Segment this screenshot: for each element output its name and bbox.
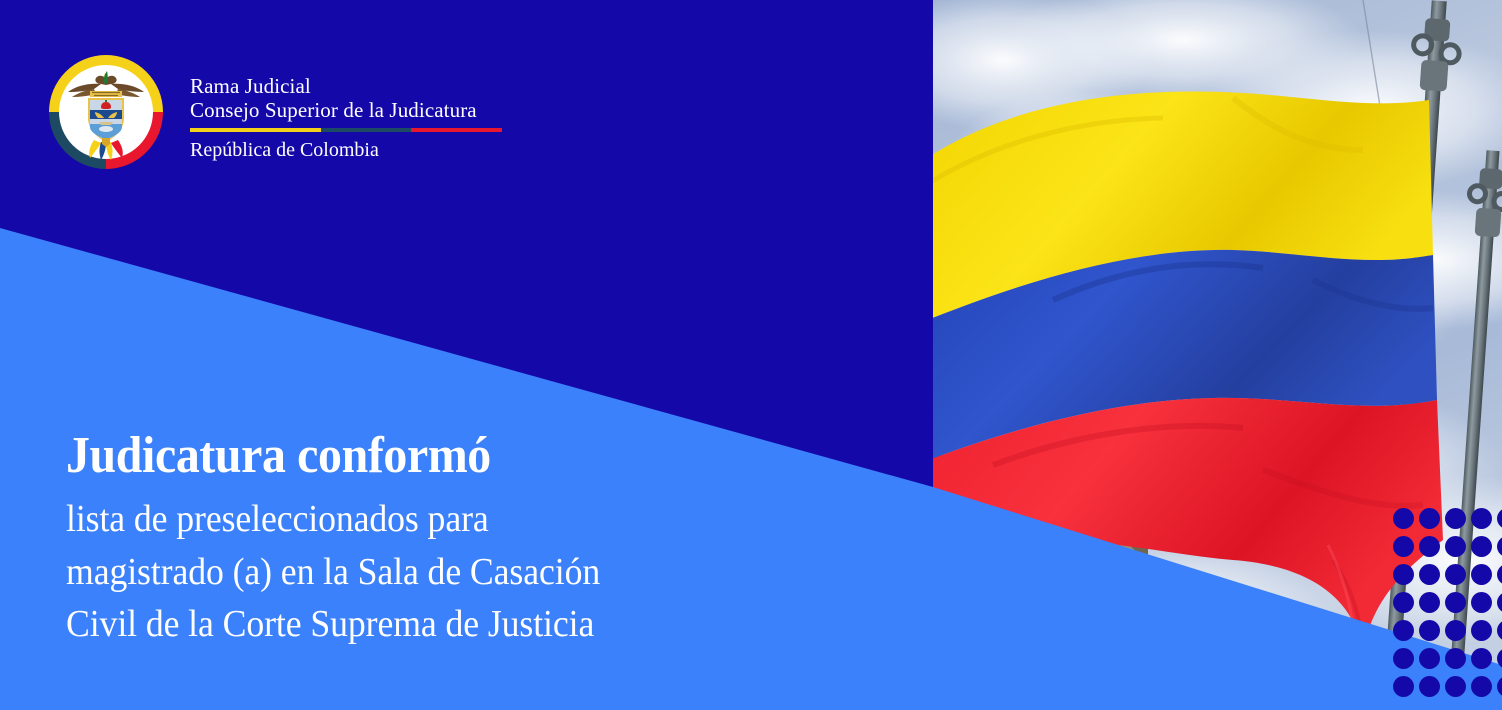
tricolor-rule-red (411, 128, 502, 132)
news-banner: Rama Judicial Consejo Superior de la Jud… (0, 0, 1502, 710)
headline-line-1: lista de preseleccionados para (66, 493, 724, 545)
logo-line-republica: República de Colombia (190, 138, 502, 162)
headline-line-3: Civil de la Corte Suprema de Justicia (66, 598, 724, 650)
headline-line-2: magistrado (a) en la Sala de Casación (66, 546, 724, 598)
logo-line-rama-judicial: Rama Judicial (190, 74, 502, 98)
headline-emphasis: Judicatura conformó (66, 428, 710, 484)
tricolor-rule-yellow (190, 128, 321, 132)
institution-logo: Rama Judicial Consejo Superior de la Jud… (46, 52, 502, 172)
headline: Judicatura conformó lista de preseleccio… (66, 428, 766, 650)
tricolor-rule-teal (321, 128, 411, 132)
logo-line-consejo-superior: Consejo Superior de la Judicatura (190, 98, 502, 122)
tricolor-rule (190, 128, 502, 132)
colombia-coat-of-arms-emblem (46, 52, 166, 172)
flag-photo (933, 0, 1502, 710)
